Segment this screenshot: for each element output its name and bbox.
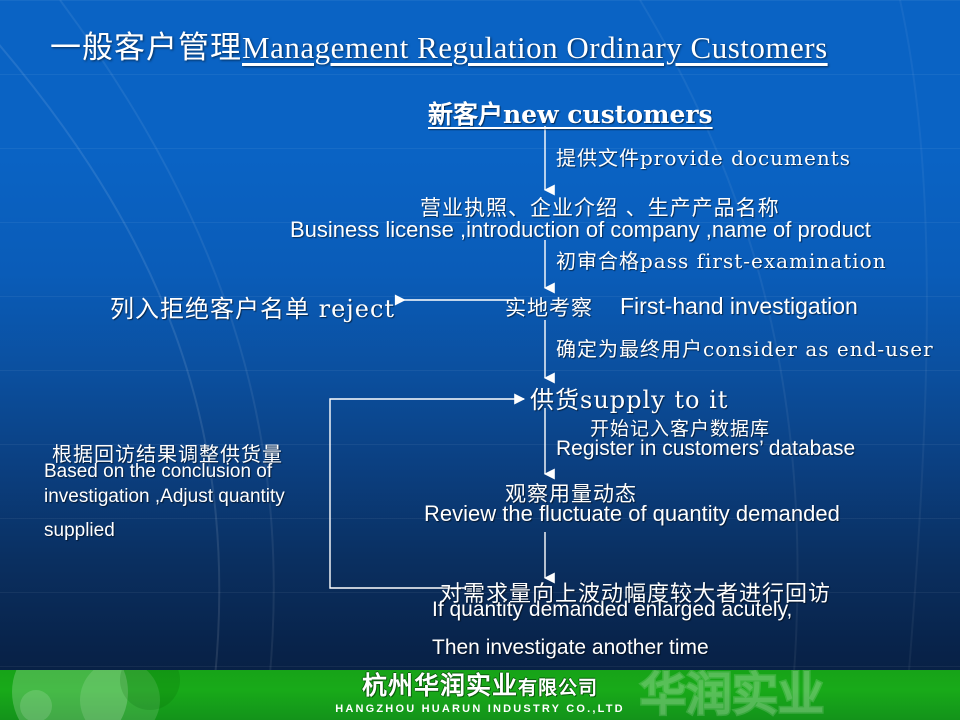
label-register-en: Register in customers’ database xyxy=(556,437,855,461)
node-documents-en: Business license ,introduction of compan… xyxy=(290,217,871,243)
node-feedback-label-en-line3: supplied xyxy=(44,520,115,542)
node-feedback-label-en-line1: Based on the conclusion of xyxy=(44,461,272,483)
label-consider-as-end-user: 确定为最终用户consider as end-user xyxy=(556,333,934,362)
node-bottom-en-line1: If quantity demanded enlarged acutely, xyxy=(432,598,792,622)
node-field-investigation-en: First-hand investigation xyxy=(620,293,858,320)
footer-company-block: 杭州华润实业有限公司 HANGZHOU HUARUN INDUSTRY CO.,… xyxy=(0,670,960,720)
node-review-en: Review the fluctuate of quantity demande… xyxy=(424,501,840,527)
arrow-feedback-loop xyxy=(330,399,524,588)
footer-company-cn-main: 杭州华润实业 xyxy=(362,671,518,700)
node-new-customers: 新客户new customers xyxy=(428,95,713,131)
footer-company-cn: 杭州华润实业有限公司 xyxy=(362,673,598,701)
slide-canvas: 一般客户管理Management Regulation Ordinary Cus… xyxy=(0,0,960,720)
footer-company-en: HANGZHOU HUARUN INDUSTRY CO.,LTD xyxy=(335,702,625,717)
label-provide-documents: 提供文件provide documents xyxy=(556,142,851,171)
page-title: 一般客户管理Management Regulation Ordinary Cus… xyxy=(50,26,950,72)
page-title-cn: 一般客户管理 xyxy=(50,30,242,66)
node-bottom-en-line2: Then investigate another time xyxy=(432,636,709,660)
footer-banner: 华润实业 杭州华润实业有限公司 HANGZHOU HUARUN INDUSTRY… xyxy=(0,670,960,720)
node-reject: 列入拒绝客户名单 reject xyxy=(110,289,395,324)
node-field-investigation-cn: 实地考察 xyxy=(505,292,593,322)
footer-company-cn-suffix: 有限公司 xyxy=(518,677,598,699)
page-title-en: Management Regulation Ordinary Customers xyxy=(242,30,828,65)
node-supply: 供货supply to it xyxy=(530,380,728,415)
node-feedback-label-en-line2: investigation ,Adjust quantity xyxy=(44,486,285,508)
label-pass-first-examination: 初审合格pass first-examination xyxy=(556,245,887,274)
